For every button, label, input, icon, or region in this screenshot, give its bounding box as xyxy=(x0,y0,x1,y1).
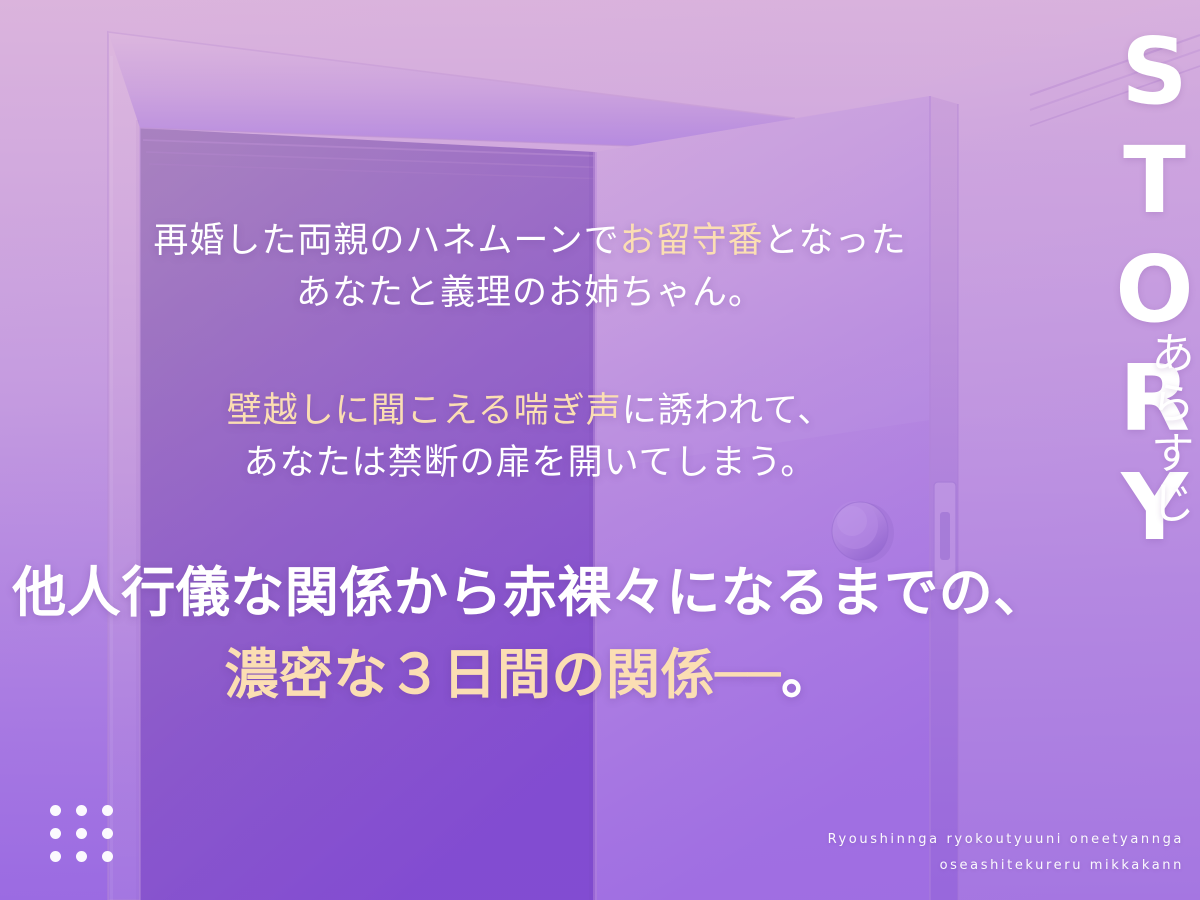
dot xyxy=(50,805,61,816)
dot xyxy=(102,805,113,816)
dot xyxy=(50,851,61,862)
dot xyxy=(102,851,113,862)
dot xyxy=(76,828,87,839)
story-slide: STORY あらすじ 再婚した両親のハネムーンでお留守番となった あなたと義理の… xyxy=(0,0,1200,900)
dot xyxy=(102,828,113,839)
story-rail: STORY あらすじ xyxy=(1072,0,1200,900)
dot xyxy=(50,828,61,839)
romaji-line-2: oseashitekureru mikkakann xyxy=(664,853,1184,878)
romaji-caption: Ryoushinnga ryokoutyuuni oneetyannga ose… xyxy=(664,827,1184,878)
dot-grid-decoration xyxy=(50,805,128,874)
romaji-line-1: Ryoushinnga ryokoutyuuni oneetyannga xyxy=(664,827,1184,852)
dot xyxy=(76,805,87,816)
door-illustration xyxy=(0,0,1200,900)
dot xyxy=(76,851,87,862)
section-title-ja: あらすじ xyxy=(1132,330,1192,530)
